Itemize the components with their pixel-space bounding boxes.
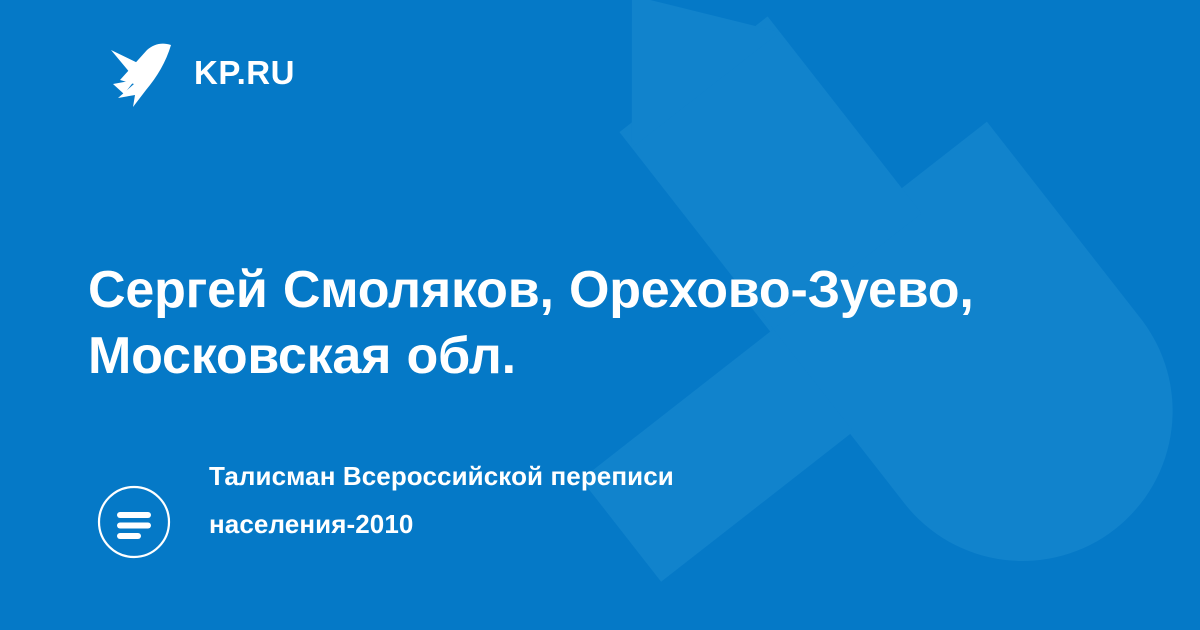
- page-title: Сергей Смоляков, Орехово-Зуево, Московск…: [88, 257, 1098, 389]
- list-lines-circle-icon[interactable]: [97, 485, 171, 559]
- swallow-bird-icon: [110, 36, 172, 108]
- footer-caption: Талисман Всероссийской переписи населени…: [209, 452, 869, 548]
- brand-row[interactable]: KP.RU: [110, 36, 295, 108]
- footer-row: Талисман Всероссийской переписи населени…: [97, 452, 869, 559]
- share-card: KP.RU Сергей Смоляков, Орехово-Зуево, Мо…: [0, 0, 1200, 630]
- brand-wordmark: KP.RU: [194, 56, 295, 89]
